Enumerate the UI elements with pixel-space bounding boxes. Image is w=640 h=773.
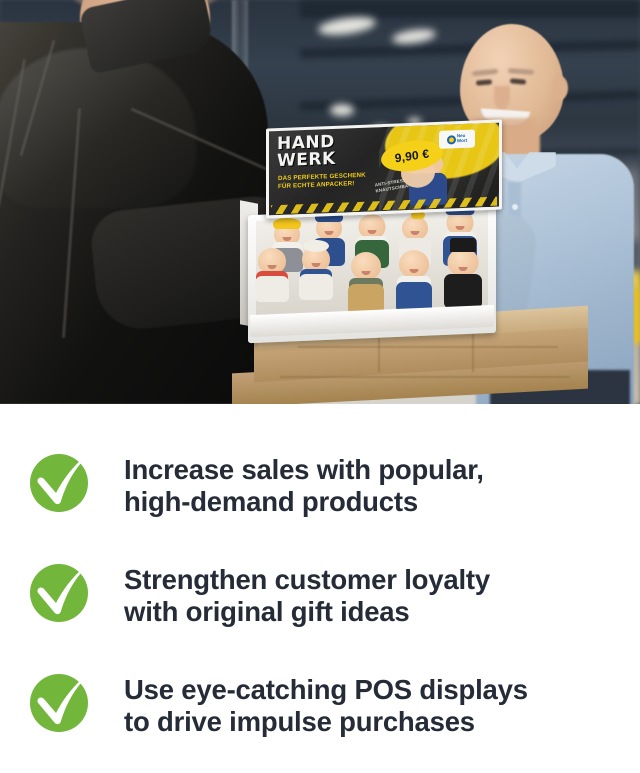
product-subtitle-line2: FÜR ECHTE ANPACKER! [278, 180, 354, 190]
nose [494, 86, 510, 110]
benefit-text: Increase sales with popular, high-demand… [124, 452, 484, 518]
figurine-head [448, 248, 479, 276]
benefit-item-1: Increase sales with popular, high-demand… [28, 452, 484, 518]
brand-logo: NeuWort [439, 130, 475, 149]
green-check-icon [28, 452, 90, 514]
wood-grain [378, 336, 380, 372]
green-check-icon [28, 562, 90, 624]
green-check-icon [28, 672, 90, 734]
figurine-head [351, 252, 381, 280]
shirt-button [512, 204, 518, 210]
figurine-body [255, 276, 289, 302]
figurine-body [299, 274, 333, 300]
benefit-text: Strengthen customer loyalty with origina… [124, 562, 490, 628]
product-title-line2: WERK [277, 151, 336, 170]
figurine-hat [273, 218, 301, 229]
figurine-head [399, 250, 429, 278]
figurine-body [444, 274, 482, 308]
pos-display-box: HAND WERK DAS PERFEKTE GESCHENKFÜR ECHTE… [248, 124, 500, 336]
ear [552, 76, 568, 100]
figurine-electrician-blue [394, 248, 434, 314]
logo-line2: Wort [457, 138, 467, 143]
product-header-card: HAND WERK DAS PERFEKTE GESCHENKFÜR ECHTE… [266, 119, 502, 218]
figurine-baker-white-hat [298, 242, 334, 302]
figurine-hat [303, 240, 329, 252]
benefits-list: Increase sales with popular, high-demand… [0, 404, 640, 773]
figurine-carpenter-tan [346, 250, 386, 316]
hero-photo: HAND WERK DAS PERFEKTE GESCHENKFÜR ECHTE… [0, 0, 640, 404]
figurine-tophat [450, 238, 476, 252]
logo-text: NeuWort [457, 134, 467, 144]
wood-grain [472, 332, 474, 372]
wood-grain [298, 346, 558, 348]
wood-grain [280, 376, 570, 378]
benefit-item-3: Use eye-catching POS displays to drive i… [28, 672, 528, 738]
ceiling-light [330, 104, 354, 116]
benefit-item-2: Strengthen customer loyalty with origina… [28, 562, 490, 628]
promo-panel: HAND WERK DAS PERFEKTE GESCHENKFÜR ECHTE… [0, 0, 640, 773]
figurine-butcher-white-apron [254, 246, 290, 304]
logo-mark-icon [447, 135, 456, 144]
benefit-text: Use eye-catching POS displays to drive i… [124, 672, 528, 738]
price-value: 9,90 € [394, 147, 430, 166]
figurine-head [402, 216, 428, 240]
figurine-chimneysweep-black [442, 242, 484, 312]
